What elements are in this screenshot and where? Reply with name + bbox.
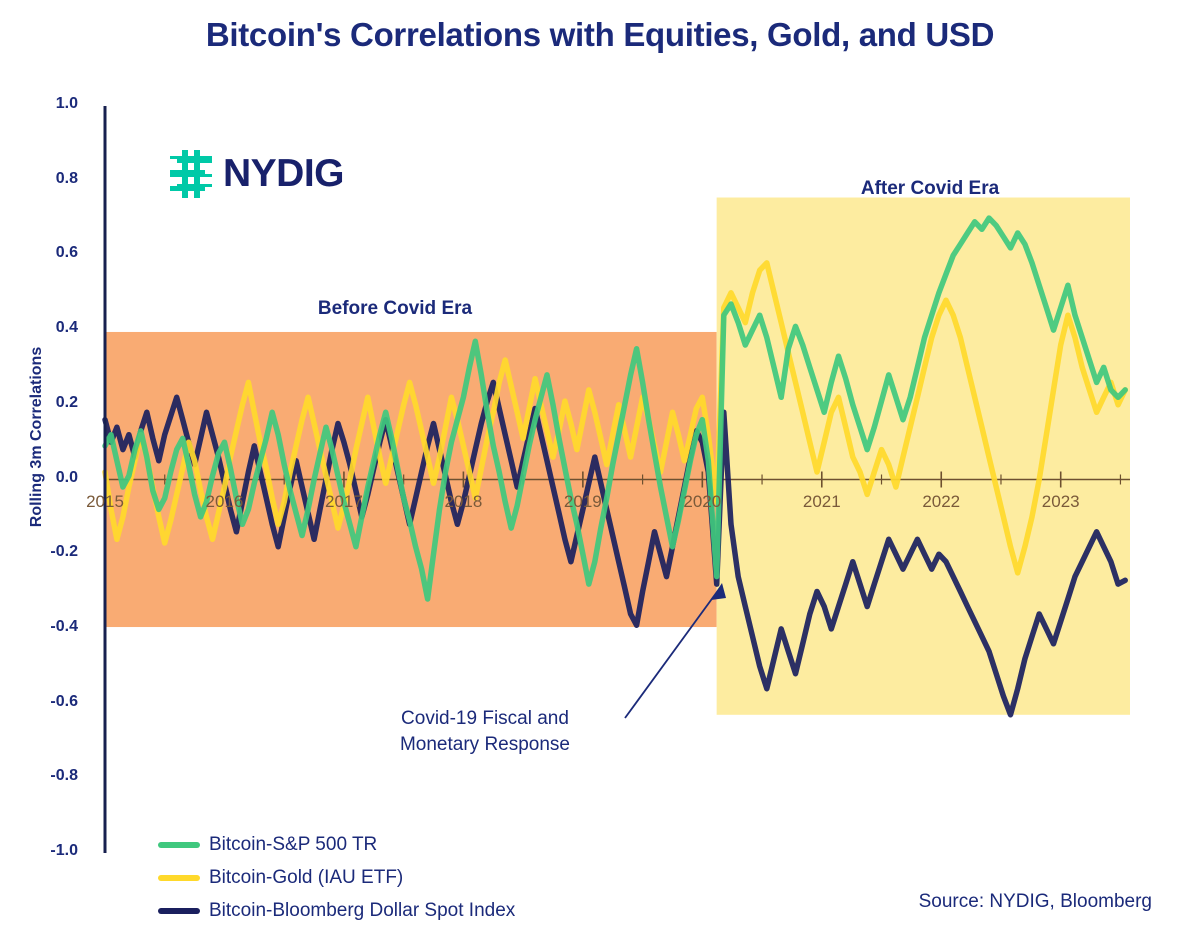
legend-item[interactable]: Bitcoin-Bloomberg Dollar Spot Index [158, 894, 678, 927]
covid-response-line-2: Monetary Response [355, 732, 615, 758]
legend-label: Bitcoin-Bloomberg Dollar Spot Index [209, 900, 515, 922]
y-tick-label: -0.2 [16, 543, 78, 561]
chart-page: Bitcoin's Correlations with Equities, Go… [0, 0, 1200, 951]
y-tick-label: -1.0 [16, 842, 78, 860]
x-tick-label: 2023 [1026, 492, 1096, 512]
covid-response-line-1: Covid-19 Fiscal and [355, 706, 615, 732]
legend-swatch-icon [158, 908, 200, 914]
legend-swatch-icon [158, 875, 200, 881]
y-tick-label: -0.8 [16, 767, 78, 785]
x-tick-label: 2018 [428, 492, 498, 512]
x-tick-label: 2016 [189, 492, 259, 512]
x-tick-label: 2017 [309, 492, 379, 512]
x-tick-label: 2015 [70, 492, 140, 512]
x-tick-label: 2020 [667, 492, 737, 512]
covid-response-annotation: Covid-19 Fiscal and Monetary Response [355, 706, 615, 758]
legend-label: Bitcoin-Gold (IAU ETF) [209, 867, 403, 889]
legend-label: Bitcoin-S&P 500 TR [209, 834, 377, 856]
legend-swatch-icon [158, 842, 200, 848]
nydig-wordmark: NYDIG [223, 152, 344, 196]
nydig-s-mark-icon [168, 150, 214, 198]
legend-item[interactable]: Bitcoin-S&P 500 TR [158, 828, 678, 861]
chart-plot-area [0, 0, 1200, 951]
y-axis-title: Rolling 3m Correlations [28, 337, 46, 537]
nydig-logo: NYDIG [168, 150, 344, 198]
y-tick-label: 0.4 [16, 319, 78, 337]
legend-item[interactable]: Bitcoin-Gold (IAU ETF) [158, 861, 678, 894]
y-tick-label: 0.2 [16, 394, 78, 412]
y-tick-label: 0.8 [16, 170, 78, 188]
y-tick-label: 1.0 [16, 95, 78, 113]
y-tick-label: -0.4 [16, 618, 78, 636]
x-tick-label: 2022 [906, 492, 976, 512]
y-tick-label: -0.6 [16, 693, 78, 711]
chart-legend: Bitcoin-S&P 500 TRBitcoin-Gold (IAU ETF)… [158, 828, 678, 927]
y-tick-label: 0.6 [16, 244, 78, 262]
after-covid-era-label: After Covid Era [805, 178, 1055, 200]
source-note: Source: NYDIG, Bloomberg [919, 891, 1152, 913]
x-tick-label: 2019 [548, 492, 618, 512]
x-tick-label: 2021 [787, 492, 857, 512]
y-tick-label: 0.0 [16, 469, 78, 487]
before-covid-era-label: Before Covid Era [270, 298, 520, 320]
